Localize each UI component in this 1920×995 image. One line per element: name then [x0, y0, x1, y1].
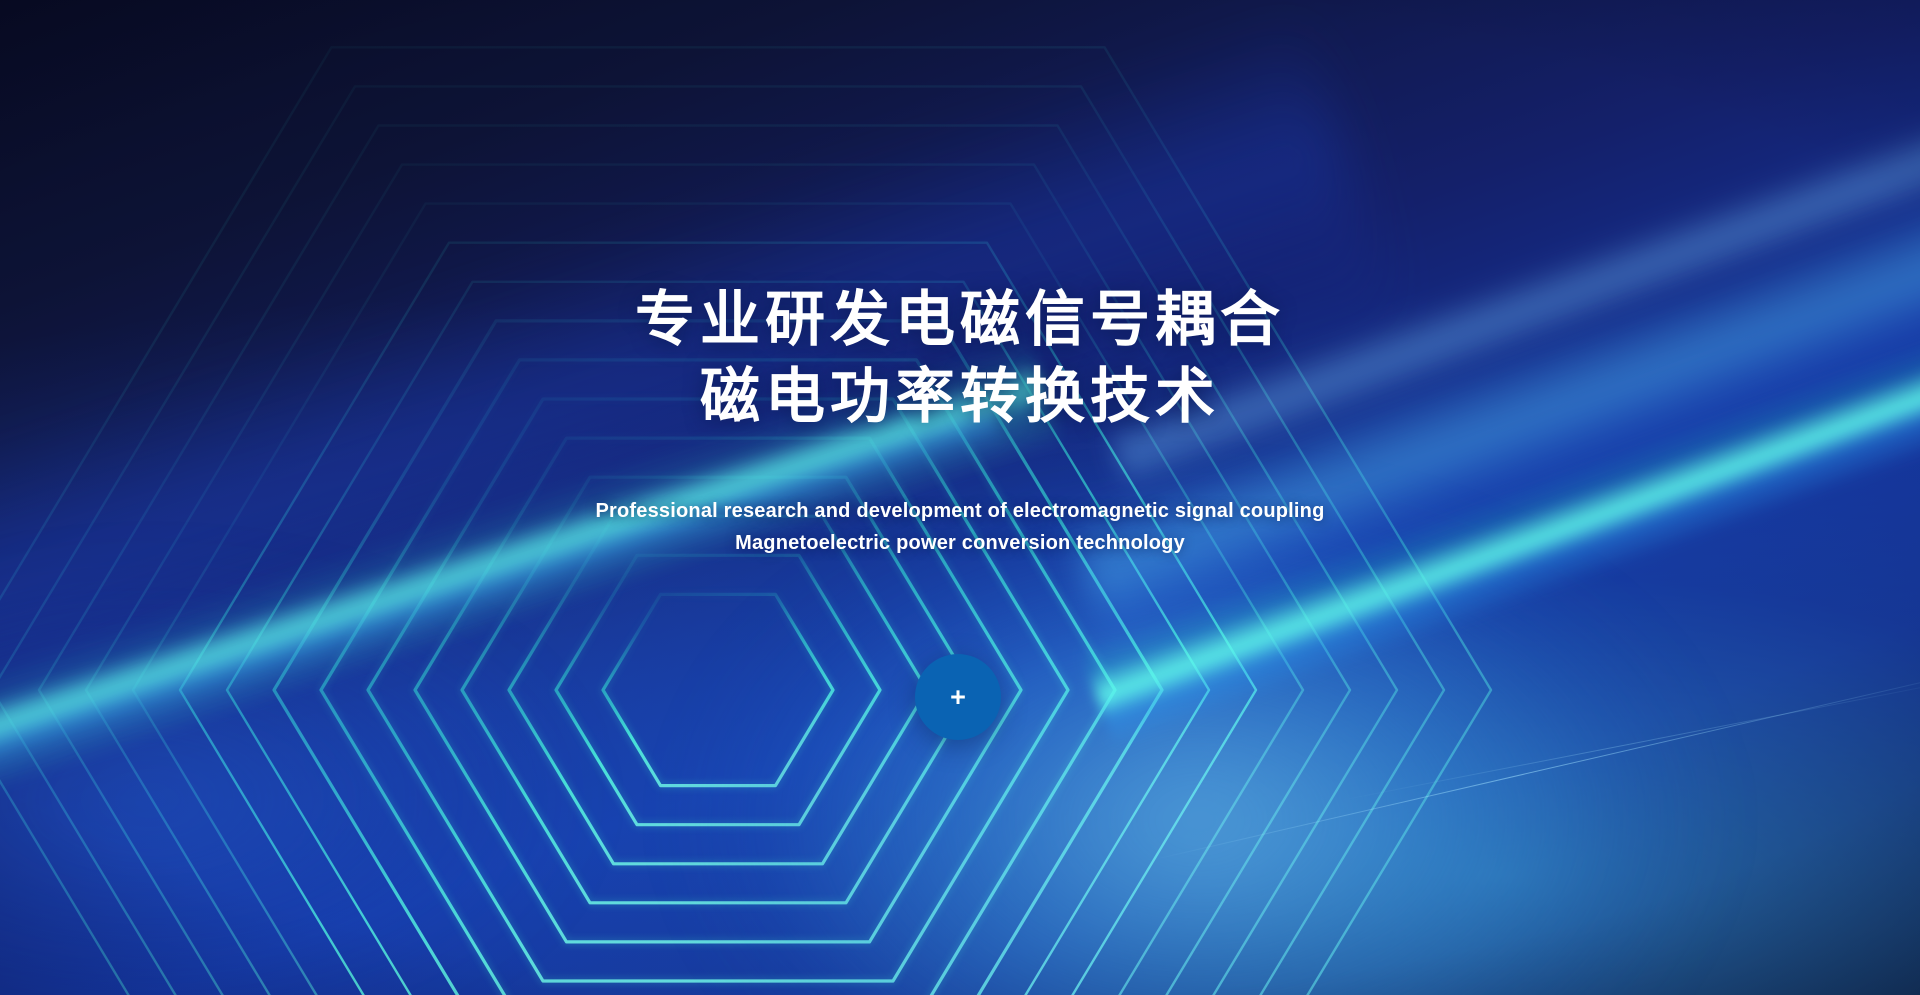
expand-plus-button[interactable]: + — [915, 654, 1001, 740]
hero-subtitle-line-1: Professional research and development of… — [0, 495, 1920, 527]
page-title: 专业研发电磁信号耦合 磁电功率转换技术 — [0, 282, 1920, 436]
hero-title-line-2: 磁电功率转换技术 — [0, 359, 1920, 436]
hero-subtitle-block: Professional research and development of… — [0, 495, 1920, 559]
hexagon-ring — [603, 594, 833, 785]
hexagon-ring — [509, 516, 927, 864]
plus-icon: + — [950, 684, 966, 711]
page-subtitle: Professional research and development of… — [0, 495, 1920, 559]
hero-subtitle-line-2: Magnetoelectric power conversion technol… — [0, 527, 1920, 559]
hero-title-block: 专业研发电磁信号耦合 磁电功率转换技术 — [0, 282, 1920, 436]
hero-banner: 专业研发电磁信号耦合 磁电功率转换技术 Professional researc… — [0, 0, 1920, 995]
hero-title-line-1: 专业研发电磁信号耦合 — [0, 282, 1920, 359]
